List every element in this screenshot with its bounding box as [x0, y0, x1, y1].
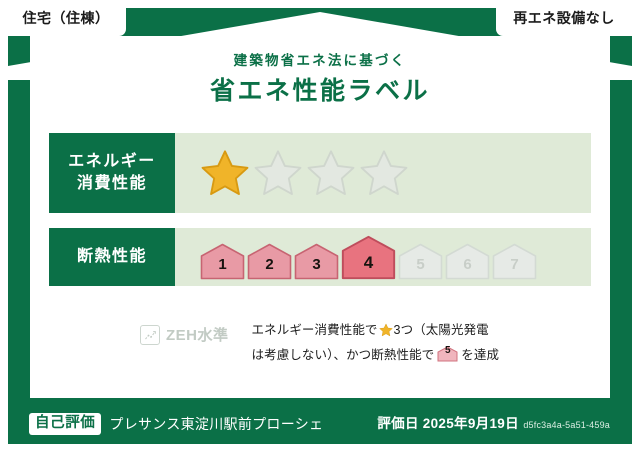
insulation-performance-row: 断熱性能 1234567 — [49, 228, 591, 286]
grade-badge-num: 1 — [218, 257, 226, 280]
title-main: 省エネ性能ラベル — [0, 79, 640, 104]
insulation-performance-label-line1: 断熱性能 — [77, 246, 147, 268]
star-filled-icon — [200, 148, 250, 198]
zeh-chart-icon — [140, 325, 160, 345]
grade-scale: 1234567 — [200, 235, 537, 280]
grade-badge: 3 — [294, 243, 339, 280]
grade-badge-num: 4 — [364, 254, 373, 280]
zeh-description: エネルギー消費性能で3つ（太陽光発電 は考慮しない）、かつ断熱性能で5を達成 — [229, 320, 591, 366]
zeh-desc-line2-b: を達成 — [461, 348, 499, 362]
grade-badge: 2 — [247, 243, 292, 280]
zeh-desc-line1-b: 3つ（太陽光発電 — [394, 323, 489, 337]
zeh-block: ZEH水準 エネルギー消費性能で3つ（太陽光発電 は考慮しない）、かつ断熱性能で… — [49, 320, 591, 366]
title-block: 建築物省エネ法に基づく 省エネ性能ラベル — [0, 54, 640, 104]
tag-building-type: 住宅（住棟） — [8, 0, 126, 36]
star-icon — [379, 323, 393, 345]
insulation-performance-value: 1234567 — [175, 228, 591, 286]
evaluation-id: d5fc3a4a-5a51-459a — [523, 420, 610, 430]
grade-badge-num: 6 — [463, 257, 471, 280]
grade-badge-num: 7 — [510, 257, 518, 280]
building-name: プレサンス東淀川駅前プローシェ — [109, 417, 323, 431]
grade-badge-num: 2 — [265, 257, 273, 280]
zeh-label: ZEH水準 — [166, 328, 229, 343]
grade-badge: 7 — [492, 243, 537, 280]
star-empty-icon — [359, 148, 409, 198]
grade-badge-num: 3 — [312, 257, 320, 280]
grade-badge: 5 — [398, 243, 443, 280]
self-evaluation-badge: 自己評価 — [29, 413, 101, 435]
energy-performance-value — [175, 133, 591, 213]
evaluation-info: 評価日 2025年9月19日 d5fc3a4a-5a51-459a — [377, 416, 610, 432]
energy-performance-label-line1: エネルギー — [68, 151, 156, 173]
footer: 自己評価 プレサンス東淀川駅前プローシェ 評価日 2025年9月19日 d5fc… — [8, 404, 632, 444]
star-rating — [200, 148, 409, 198]
tag-renewable-equipment: 再エネ設備なし — [496, 0, 632, 36]
zeh-desc-line1-a: エネルギー消費性能で — [252, 323, 378, 337]
grade-badge-num: 5 — [416, 257, 424, 280]
title-subtitle: 建築物省エネ法に基づく — [0, 54, 640, 68]
tag-renewable-equipment-text: 再エネ設備なし — [513, 11, 615, 25]
evaluation-date: 評価日 2025年9月19日 — [377, 416, 519, 431]
energy-performance-row: エネルギー 消費性能 — [49, 133, 591, 213]
grade-badge: 6 — [445, 243, 490, 280]
grade-badge: 4 — [341, 235, 396, 280]
energy-performance-label: 住宅（住棟） 再エネ設備なし 建築物省エネ法に基づく 省エネ性能ラベル エネルギ… — [0, 0, 640, 452]
zeh-desc-line2-a: は考慮しない）、かつ断熱性能で — [252, 348, 435, 362]
energy-performance-label-line2: 消費性能 — [77, 173, 147, 195]
inline-grade-badge: 5 — [437, 346, 458, 362]
insulation-performance-label: 断熱性能 — [49, 228, 175, 286]
star-empty-icon — [253, 148, 303, 198]
inline-grade-badge-num: 5 — [437, 346, 458, 362]
energy-performance-label: エネルギー 消費性能 — [49, 133, 175, 213]
grade-badge: 1 — [200, 243, 245, 280]
zeh-mark: ZEH水準 — [49, 320, 229, 345]
star-empty-icon — [306, 148, 356, 198]
tag-building-type-text: 住宅（住棟） — [23, 11, 110, 25]
